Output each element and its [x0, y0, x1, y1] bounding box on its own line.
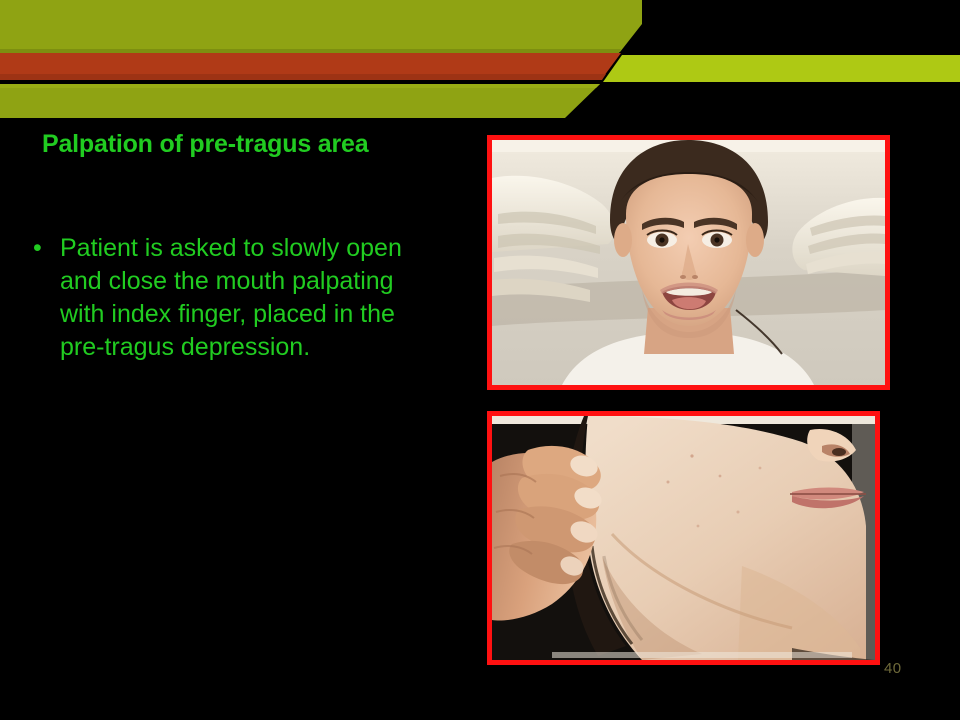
page-title: Palpation of pre-tragus area [42, 130, 472, 159]
clinical-photo-frontal-bilateral-palpation [487, 135, 890, 390]
banner-rust-seam [0, 74, 606, 80]
banner-bright-green-band [603, 55, 960, 82]
photo-profile-illustration [492, 416, 875, 660]
banner-olive-bottom-shape [0, 84, 600, 118]
clinical-photo-profile-preauricular-palpation [487, 411, 880, 665]
bullet-list: • Patient is asked to slowly open and cl… [22, 232, 442, 364]
banner-olive-bottom-highlight [0, 84, 600, 88]
header-decorative-banner [0, 0, 960, 122]
photo-frontal-illustration [492, 140, 885, 385]
list-item: • Patient is asked to slowly open and cl… [22, 232, 442, 364]
slide-canvas: Palpation of pre-tragus area • Patient i… [0, 0, 960, 720]
banner-olive-top-shape [0, 0, 642, 52]
bullet-item-text: Patient is asked to slowly open and clos… [60, 232, 442, 364]
banner-olive-top-seam [0, 49, 621, 53]
bullet-marker-icon: • [33, 232, 42, 265]
slide-number: 40 [884, 660, 902, 677]
